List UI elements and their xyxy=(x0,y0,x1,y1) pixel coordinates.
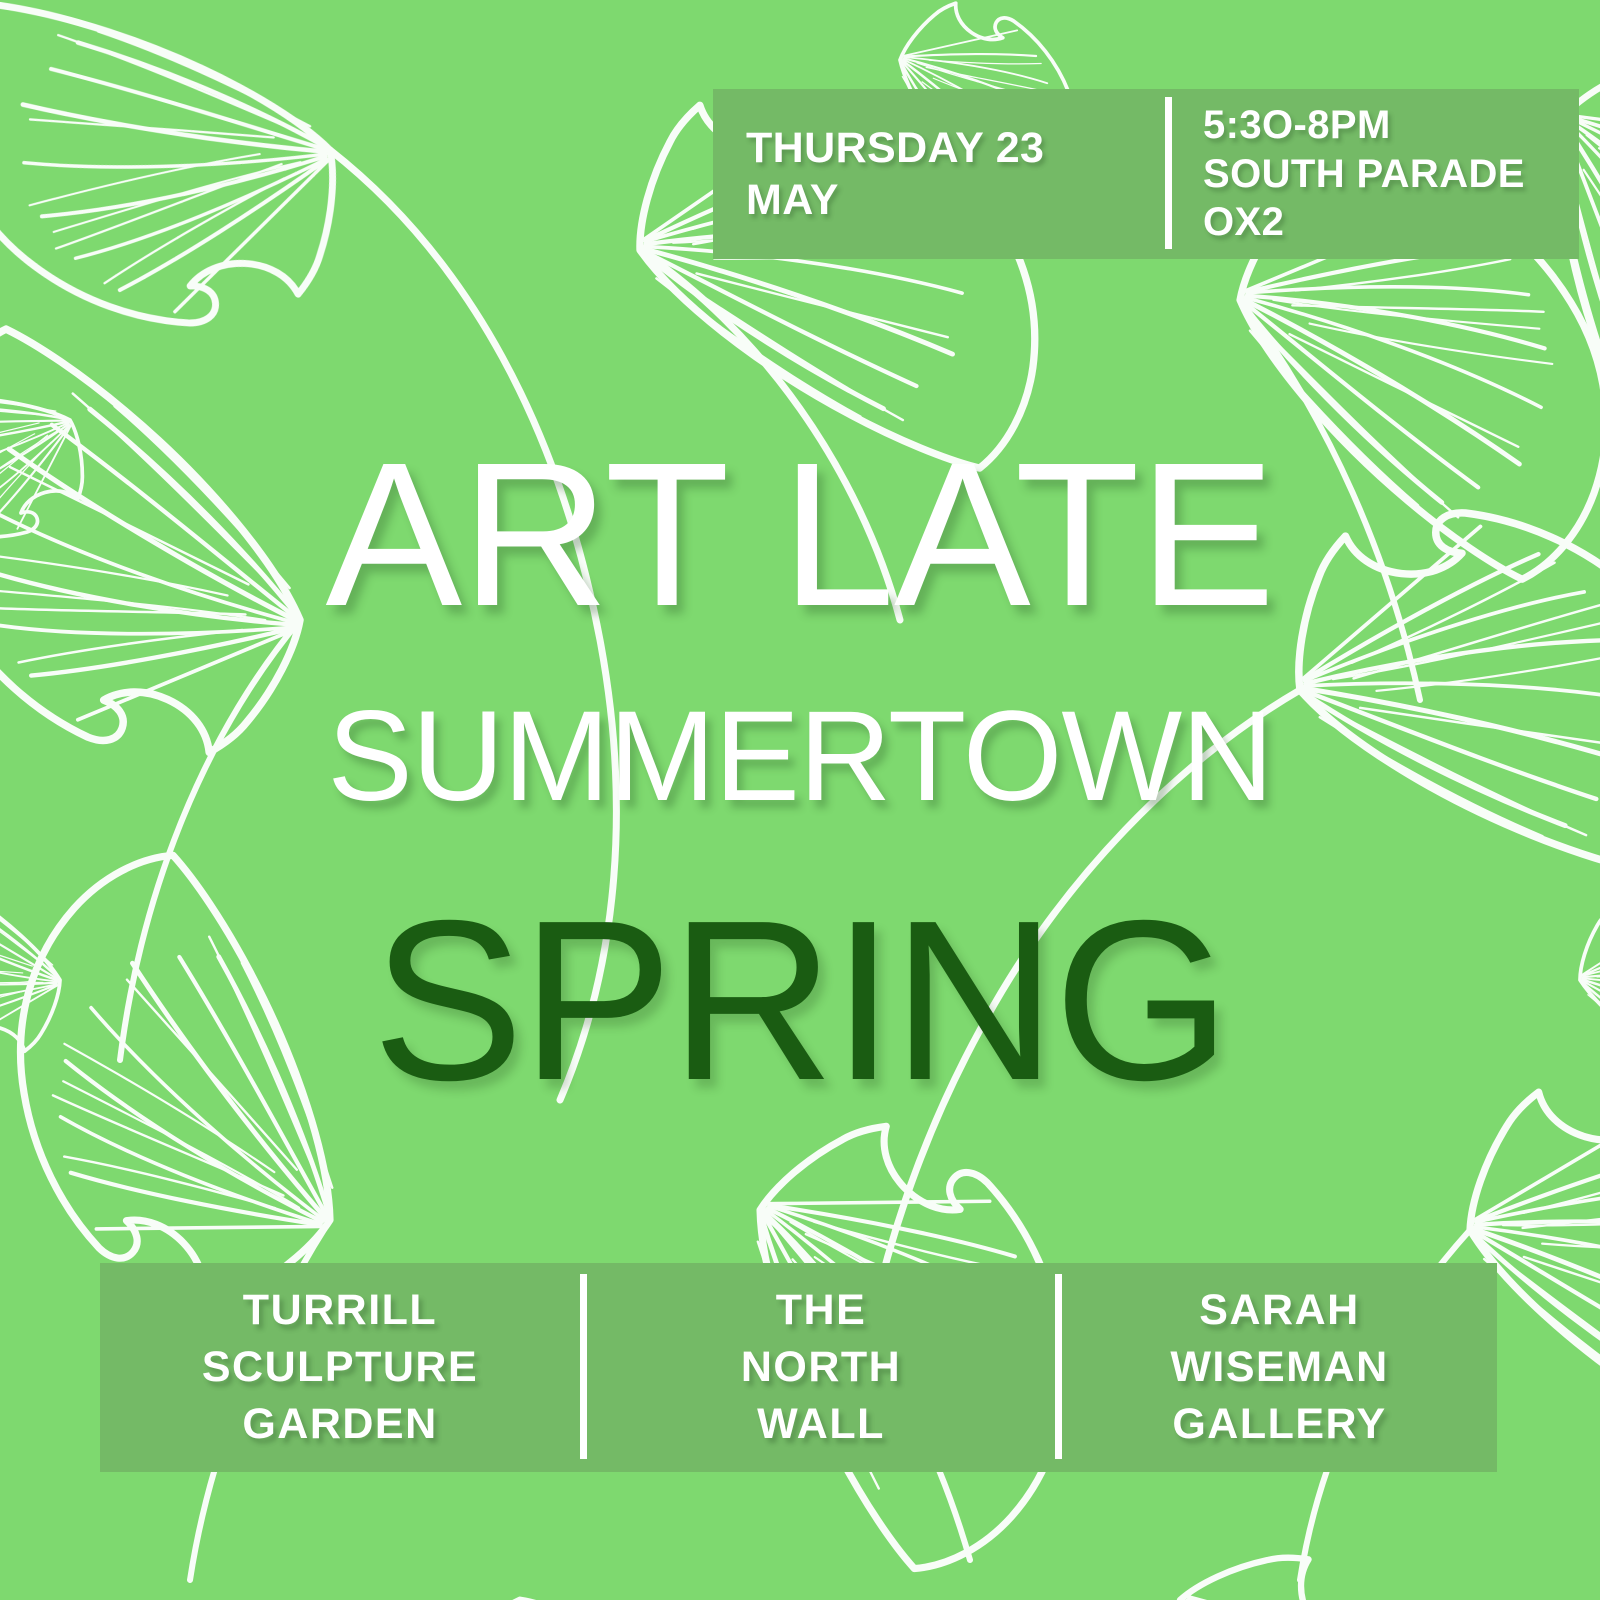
venue-line: SCULPTURE xyxy=(202,1339,478,1396)
venues-banner: TURRILL SCULPTURE GARDEN THE NORTH WALL … xyxy=(100,1263,1497,1472)
venue-line: GARDEN xyxy=(242,1396,437,1453)
venue-line: THE xyxy=(776,1282,867,1339)
info-banner-divider xyxy=(1165,97,1172,249)
title-line-season: SPRING xyxy=(0,887,1600,1115)
event-time-line: 5:3O-8PM xyxy=(1203,101,1559,150)
venues-banner-divider-1 xyxy=(580,1274,587,1459)
event-date-column: THURSDAY 23 MAY xyxy=(713,89,1165,259)
event-postcode-line: OX2 xyxy=(1203,198,1559,247)
event-street-line: SOUTH PARADE xyxy=(1203,150,1559,199)
venue-line: SARAH xyxy=(1199,1282,1359,1339)
venue-turrill-sculpture-garden[interactable]: TURRILL SCULPTURE GARDEN xyxy=(100,1263,580,1472)
venue-line: GALLERY xyxy=(1172,1396,1386,1453)
venue-line: WISEMAN xyxy=(1170,1339,1388,1396)
title-line-summertown: SUMMERTOWN xyxy=(0,693,1600,821)
event-date-line-2: MAY xyxy=(746,174,1151,226)
venue-the-north-wall[interactable]: THE NORTH WALL xyxy=(587,1263,1055,1472)
poster-canvas: THURSDAY 23 MAY 5:3O-8PM SOUTH PARADE OX… xyxy=(0,0,1600,1600)
event-place-column: 5:3O-8PM SOUTH PARADE OX2 xyxy=(1172,89,1579,259)
venue-line: WALL xyxy=(757,1396,885,1453)
event-info-banner: THURSDAY 23 MAY 5:3O-8PM SOUTH PARADE OX… xyxy=(713,89,1579,259)
title-line-art-late: ART LATE xyxy=(0,432,1600,637)
event-date-line-1: THURSDAY 23 xyxy=(746,122,1151,174)
venues-banner-divider-2 xyxy=(1055,1274,1062,1459)
venue-sarah-wiseman-gallery[interactable]: SARAH WISEMAN GALLERY xyxy=(1062,1263,1497,1472)
venue-line: NORTH xyxy=(741,1339,901,1396)
venue-line: TURRILL xyxy=(243,1282,437,1339)
